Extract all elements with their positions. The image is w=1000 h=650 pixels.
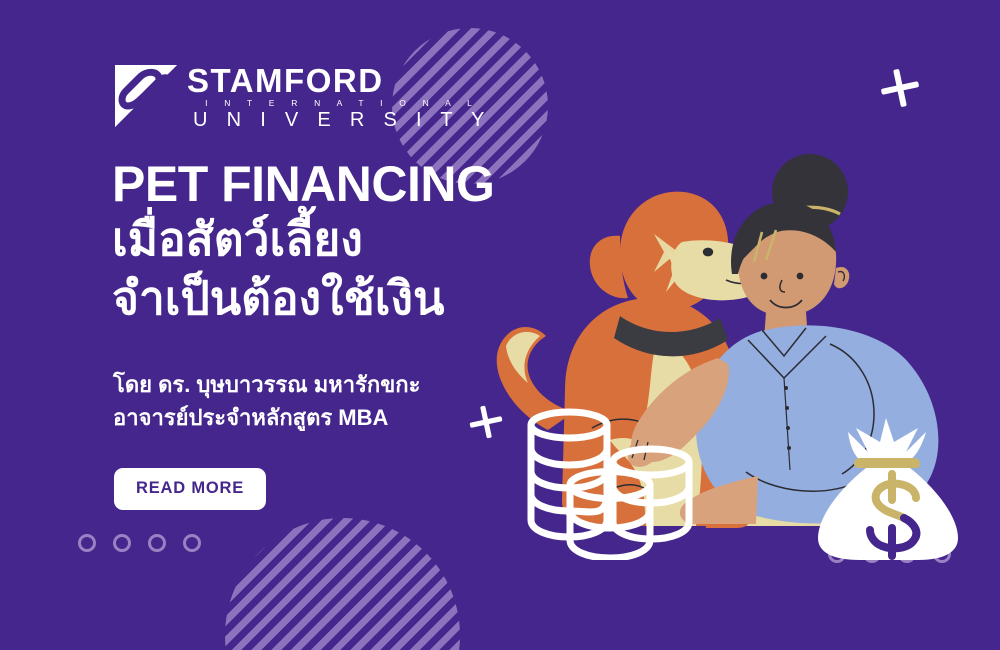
brand-logo[interactable]: STAMFORD I N T E R N A T I O N A L U N I…	[115, 62, 491, 130]
plus-mark-icon	[880, 68, 920, 108]
logo-institution: U N I V E R S I T Y	[187, 110, 491, 130]
author-name: โดย ดร. บุษบาวรรณ มหารักขกะ	[113, 368, 420, 401]
pet-financing-illustration	[470, 140, 970, 560]
ring-dot	[183, 534, 201, 552]
author-title: อาจารย์ประจำหลักสูตร MBA	[113, 401, 420, 434]
ring-dot	[148, 534, 166, 552]
ring-dots-decoration-left	[78, 534, 201, 552]
stamford-s-mark-icon	[115, 65, 177, 127]
ring-dot	[78, 534, 96, 552]
read-more-button[interactable]: READ MORE	[114, 468, 266, 510]
promo-banner: STAMFORD I N T E R N A T I O N A L U N I…	[0, 0, 1000, 650]
author-credit: โดย ดร. บุษบาวรรณ มหารักขกะ อาจารย์ประจำ…	[113, 368, 420, 434]
logo-qualifier: I N T E R N A T I O N A L	[187, 97, 491, 110]
logo-name: STAMFORD	[187, 64, 491, 97]
ring-dot	[113, 534, 131, 552]
striped-circle-decoration-bottom	[225, 518, 460, 650]
logo-wordmark: STAMFORD I N T E R N A T I O N A L U N I…	[187, 62, 491, 130]
